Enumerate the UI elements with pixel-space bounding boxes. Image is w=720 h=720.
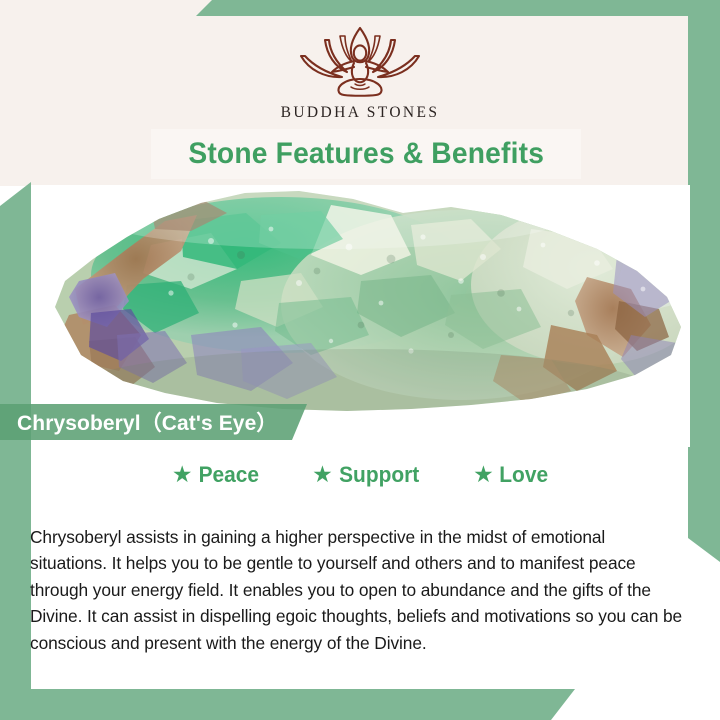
brand-logo: BUDDHA STONES [0,22,720,122]
stone-name-ribbon: Chrysoberyl（Cat's Eye） [0,404,307,440]
stone-name-label: Chrysoberyl（Cat's Eye） [17,407,277,437]
benefit-label: Peace [198,462,258,488]
benefits-row: ★ Peace ★ Support ★ Love [31,462,690,488]
stone-description: Chrysoberyl assists in gaining a higher … [30,524,682,657]
benefit-item-peace: ★ Peace [172,462,260,488]
benefit-label: Support [339,462,419,488]
brand-wordmark: BUDDHA STONES [281,104,440,122]
benefit-label: Love [499,462,548,488]
stone-info-card: BUDDHA STONES Stone Features & Benefits [0,0,720,720]
star-icon: ★ [312,463,333,486]
frame-band-left [0,182,31,700]
star-icon: ★ [172,463,193,486]
frame-band-bottom [0,689,575,720]
frame-band-top [196,0,720,16]
benefit-item-love: ★ Love [473,462,549,488]
stone-specimen-image [31,185,690,430]
title-banner: Stone Features & Benefits [151,129,581,179]
page-title: Stone Features & Benefits [188,137,544,171]
star-icon: ★ [473,463,494,486]
lotus-meditation-icon [285,22,435,98]
benefit-item-support: ★ Support [312,462,421,488]
